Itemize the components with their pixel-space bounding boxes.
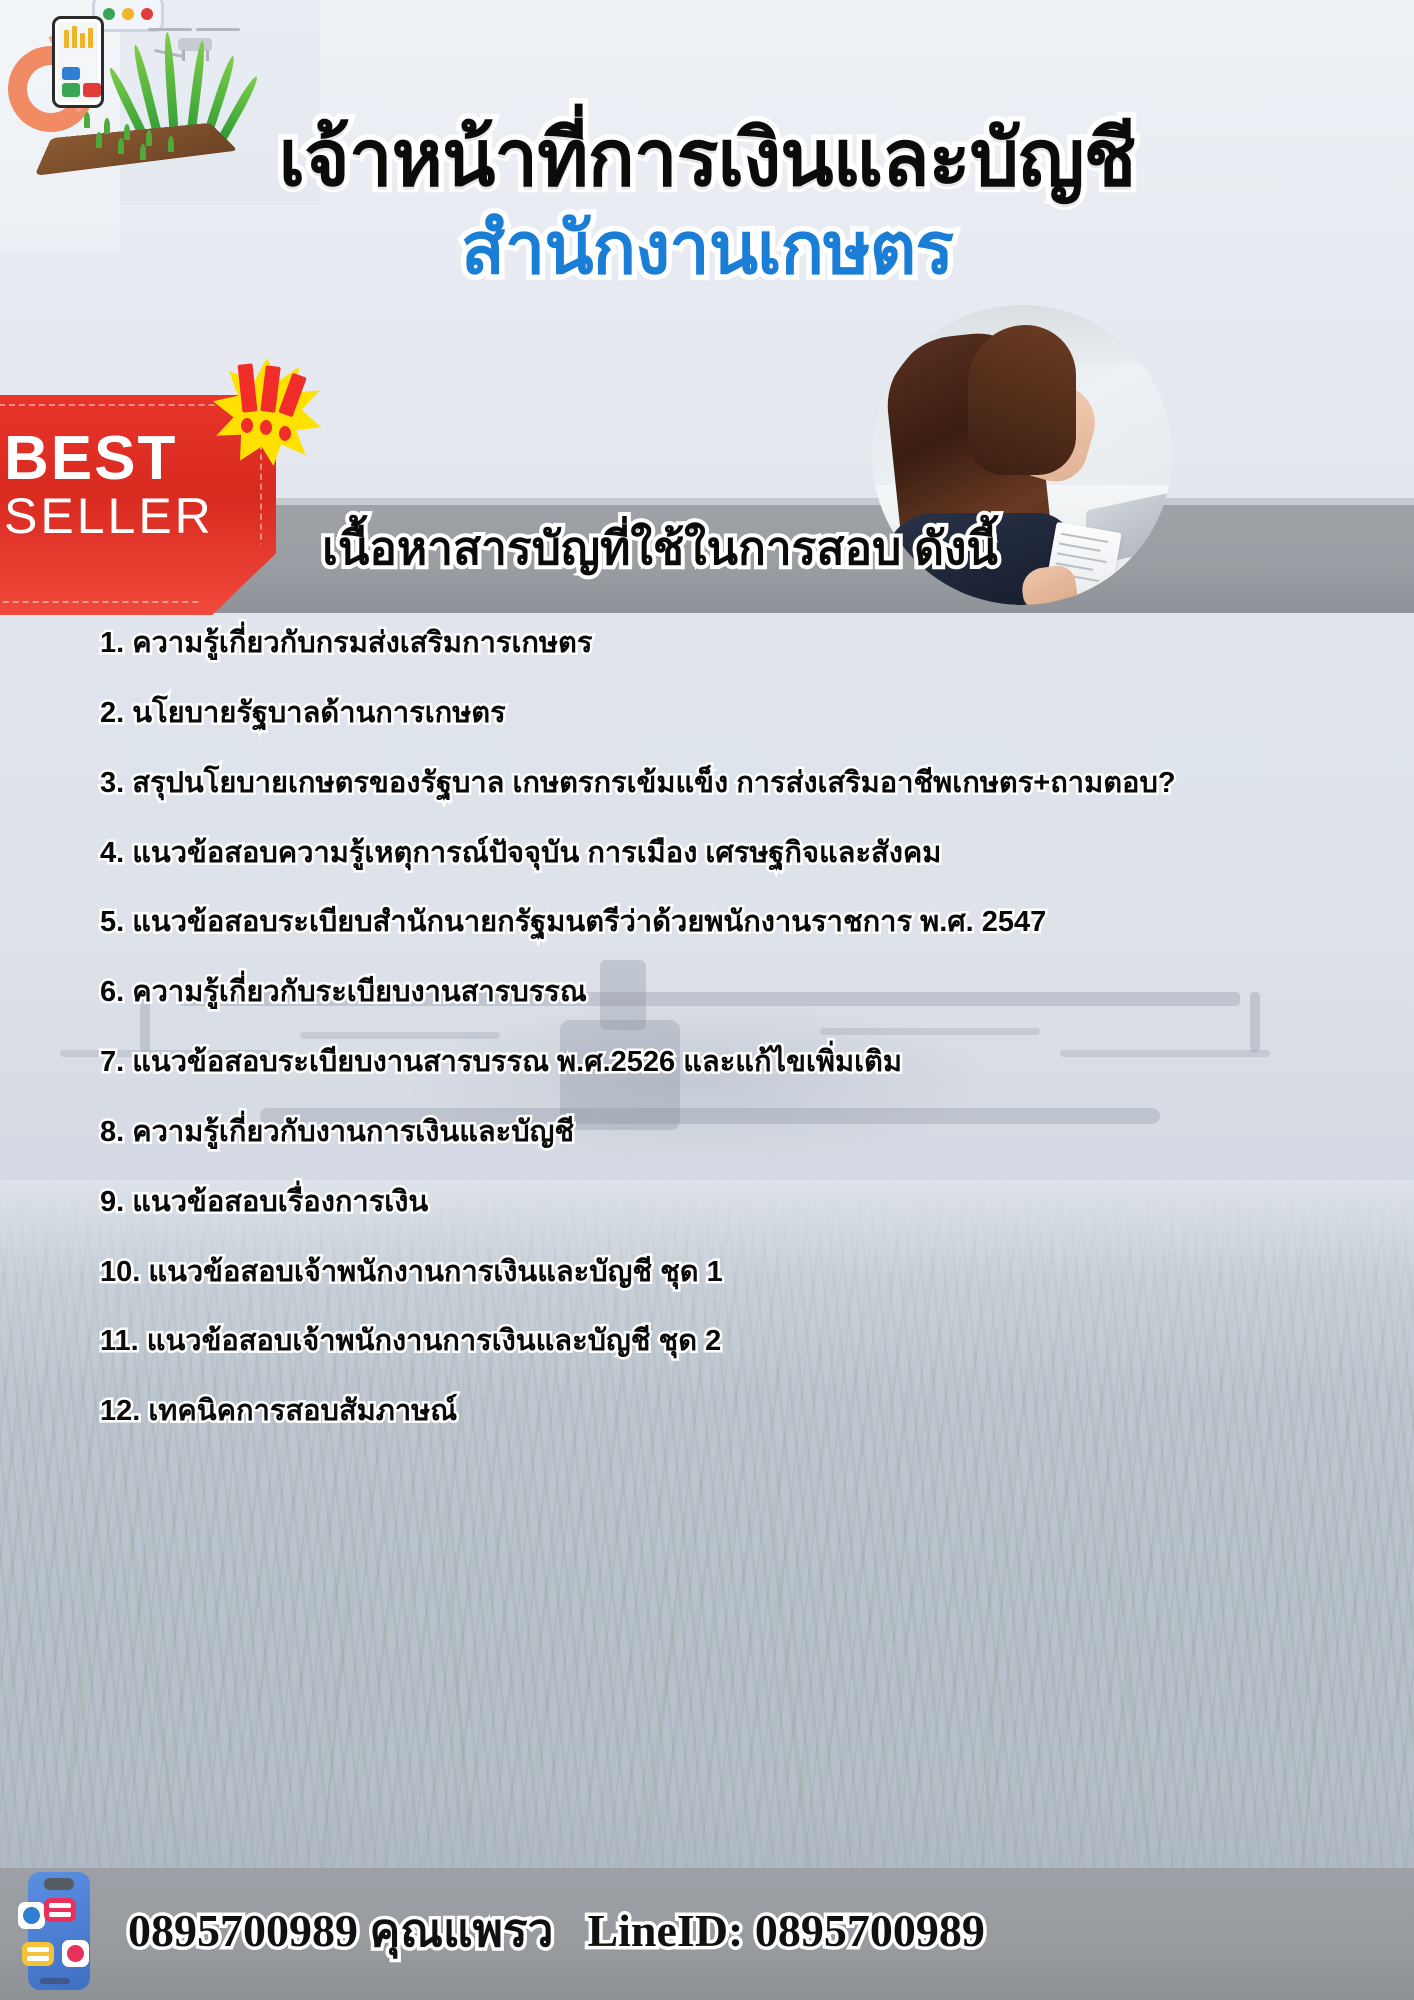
starburst-icon <box>213 358 321 466</box>
list-item: 3. สรุปนโยบายเกษตรของรัฐบาล เกษตรกรเข้มแ… <box>100 760 1350 808</box>
poster-root: เจ้าหน้าที่การเงินและบัญชี สำนักงานเกษตร… <box>0 0 1414 2000</box>
list-item: 5. แนวข้อสอบระเบียบสำนักนายกรัฐมนตรีว่าด… <box>100 899 1350 947</box>
badge-seller-label: SELLER <box>4 490 254 542</box>
contact-phone-number: 0895700989 คุณแพรว <box>128 1894 553 1967</box>
list-item: 10. แนวข้อสอบเจ้าพนักงานการเงินและบัญชี … <box>100 1249 1350 1297</box>
title-block: เจ้าหน้าที่การเงินและบัญชี สำนักงานเกษตร <box>0 118 1414 287</box>
list-item: 2. นโยบายรัฐบาลด้านการเกษตร <box>100 690 1350 738</box>
contact-info: 0895700989 คุณแพรว LineID: 0895700989 <box>128 1894 1398 1967</box>
list-item: 11. แนวข้อสอบเจ้าพนักงานการเงินและบัญชี … <box>100 1318 1350 1366</box>
list-item: 9. แนวข้อสอบเรื่องการเงิน <box>100 1179 1350 1227</box>
list-item: 8. ความรู้เกี่ยวกับงานการเงินและบัญชี <box>100 1109 1350 1157</box>
page-title-line1: เจ้าหน้าที่การเงินและบัญชี <box>0 118 1414 200</box>
list-item: 1. ความรู้เกี่ยวกับกรมส่งเสริมการเกษตร <box>100 620 1350 668</box>
list-item: 7. แนวข้อสอบระเบียบงานสารบรรณ พ.ศ.2526 แ… <box>100 1039 1350 1087</box>
list-item: 12. เทคนิคการสอบสัมภาษณ์ <box>100 1388 1350 1436</box>
contact-phone-icon <box>18 1868 104 1992</box>
contact-footer: 0895700989 คุณแพรว LineID: 0895700989 <box>0 1868 1414 2000</box>
page-title-line2: สำนักงานเกษตร <box>0 212 1414 288</box>
banner-subtitle-text: เนื้อหาสารบัญที่ใช้ในการสอบ ดังนี้ <box>280 520 1040 578</box>
contact-line-id: LineID: 0895700989 <box>587 1904 984 1957</box>
list-item: 6. ความรู้เกี่ยวกับระเบียบงานสารบรรณ <box>100 969 1350 1017</box>
syllabus-list: 1. ความรู้เกี่ยวกับกรมส่งเสริมการเกษตร 2… <box>100 620 1350 1458</box>
list-item: 4. แนวข้อสอบความรู้เหตุการณ์ปัจจุบัน การ… <box>100 830 1350 878</box>
